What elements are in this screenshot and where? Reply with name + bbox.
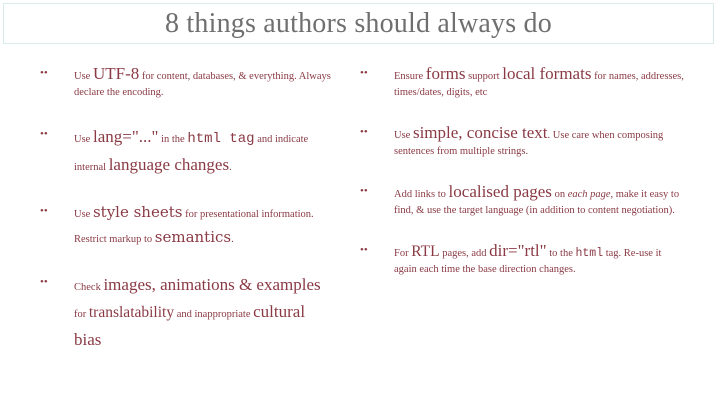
bullet-icon: • [360, 180, 394, 200]
text-run: dir="rtl" [489, 241, 546, 260]
text-run: images, animations & examples [103, 275, 320, 294]
bullet-column-left: • Use UTF-8 for content, databases, & ev… [0, 62, 340, 382]
text-run: local formats [502, 64, 591, 83]
bullet-icon: • [360, 121, 394, 141]
bullet-text: Use simple, concise text. Use care when … [394, 121, 684, 160]
bullet-icon: • [40, 62, 74, 82]
bullet-text: Add links to localised pages on each pag… [394, 180, 684, 219]
text-run: . [231, 234, 234, 245]
bullet-text: Use lang="..." in the html tag and indic… [74, 123, 332, 178]
text-run: each page [568, 189, 611, 200]
text-run: support [465, 71, 502, 82]
text-run: . [229, 162, 232, 173]
text-run: Use [74, 71, 93, 82]
text-run: Use [74, 134, 93, 145]
text-run: Use [74, 209, 93, 220]
bullet-icon: • [40, 123, 74, 143]
text-run: For [394, 248, 411, 259]
text-run: html [575, 247, 603, 260]
text-run: for [74, 309, 89, 320]
bullet-text: For RTL pages, add dir="rtl" to the html… [394, 239, 684, 278]
list-item: • Use style sheets for presentational in… [40, 200, 332, 249]
bullet-icon: • [40, 271, 74, 291]
bullet-column-right: • Ensure forms support local formats for… [352, 62, 692, 382]
text-run: semantics [155, 228, 231, 246]
list-item: • Ensure forms support local formats for… [360, 62, 684, 101]
slide: 8 things authors should always do • Use … [0, 0, 720, 405]
text-run: Use [394, 130, 413, 141]
text-run: lang="..." [93, 127, 159, 146]
list-item: • Check images, animations & examples fo… [40, 271, 332, 354]
bullet-icon: • [40, 200, 74, 220]
text-run: language changes [109, 155, 229, 174]
text-run: pages, add [440, 248, 490, 259]
bullet-text: Check images, animations & examples for … [74, 271, 332, 354]
bullet-text: Use style sheets for presentational info… [74, 200, 332, 249]
text-run: simple, concise text [413, 123, 548, 142]
text-run: Ensure [394, 71, 426, 82]
text-run: to the [547, 248, 576, 259]
text-run: on [552, 189, 568, 200]
list-item: • Use UTF-8 for content, databases, & ev… [40, 62, 332, 101]
bullet-icon: • [360, 239, 394, 259]
text-run: style sheets [93, 203, 182, 221]
bullet-text: Use UTF-8 for content, databases, & ever… [74, 62, 332, 101]
slide-body: • Use UTF-8 for content, databases, & ev… [0, 62, 720, 382]
slide-title-box: 8 things authors should always do [3, 3, 714, 44]
page-title: 8 things authors should always do [165, 9, 552, 38]
text-run: html tag [187, 131, 254, 147]
list-item: • Add links to localised pages on each p… [360, 180, 684, 219]
list-item: • For RTL pages, add dir="rtl" to the ht… [360, 239, 684, 278]
list-item: • Use lang="..." in the html tag and ind… [40, 123, 332, 178]
text-run: and inappropriate [174, 309, 253, 320]
bullet-icon: • [360, 62, 394, 82]
text-run: RTL [411, 243, 439, 260]
text-run: localised pages [449, 182, 552, 201]
list-item: • Use simple, concise text. Use care whe… [360, 121, 684, 160]
text-run: UTF-8 [93, 64, 139, 83]
text-run: Add links to [394, 189, 449, 200]
bullet-text: Ensure forms support local formats for n… [394, 62, 684, 101]
text-run: translatability [89, 304, 174, 321]
text-run: in the [158, 134, 187, 145]
text-run: Check [74, 282, 103, 293]
text-run: forms [426, 64, 466, 83]
